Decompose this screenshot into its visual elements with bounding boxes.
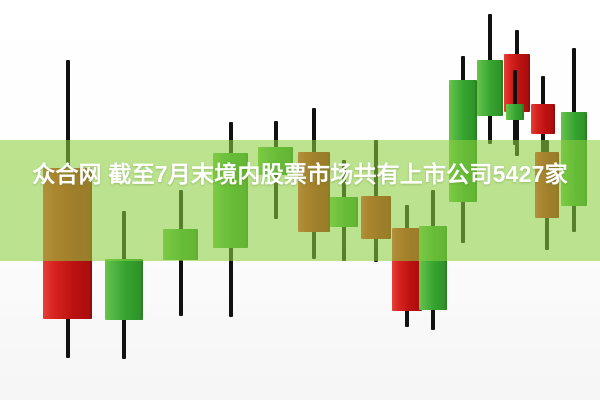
candlestick-1	[105, 211, 143, 359]
candlestick-body-up	[419, 226, 447, 310]
candlestick-body-up	[506, 104, 524, 120]
candlestick-body-up	[330, 197, 358, 227]
candlestick-0	[43, 60, 92, 358]
candlestick-body-up	[477, 60, 503, 116]
candlestick-15	[535, 140, 559, 250]
candlestick-body-down	[392, 228, 422, 311]
candlestick-2	[163, 190, 198, 316]
candlestick-body-down	[361, 196, 391, 239]
candlestick-3	[213, 122, 248, 317]
candlestick-10	[449, 56, 477, 243]
candlestick-body-up	[163, 229, 198, 260]
candlestick-body-down	[43, 168, 92, 319]
candlestick-chart	[0, 0, 600, 400]
candlestick-16	[561, 48, 587, 232]
candlestick-body-down	[531, 104, 555, 134]
candlestick-13	[506, 70, 524, 145]
candlestick-body-up	[105, 259, 143, 320]
candlestick-11	[477, 14, 503, 144]
candlestick-body-up	[561, 112, 587, 206]
candlestick-9	[419, 190, 447, 330]
candlestick-7	[361, 140, 391, 262]
candlestick-8	[392, 205, 422, 327]
headline-text: 众合网 截至7月末境内股票市场共有上市公司5427家	[0, 160, 600, 188]
banner-image: 众合网 截至7月末境内股票市场共有上市公司5427家	[0, 0, 600, 400]
